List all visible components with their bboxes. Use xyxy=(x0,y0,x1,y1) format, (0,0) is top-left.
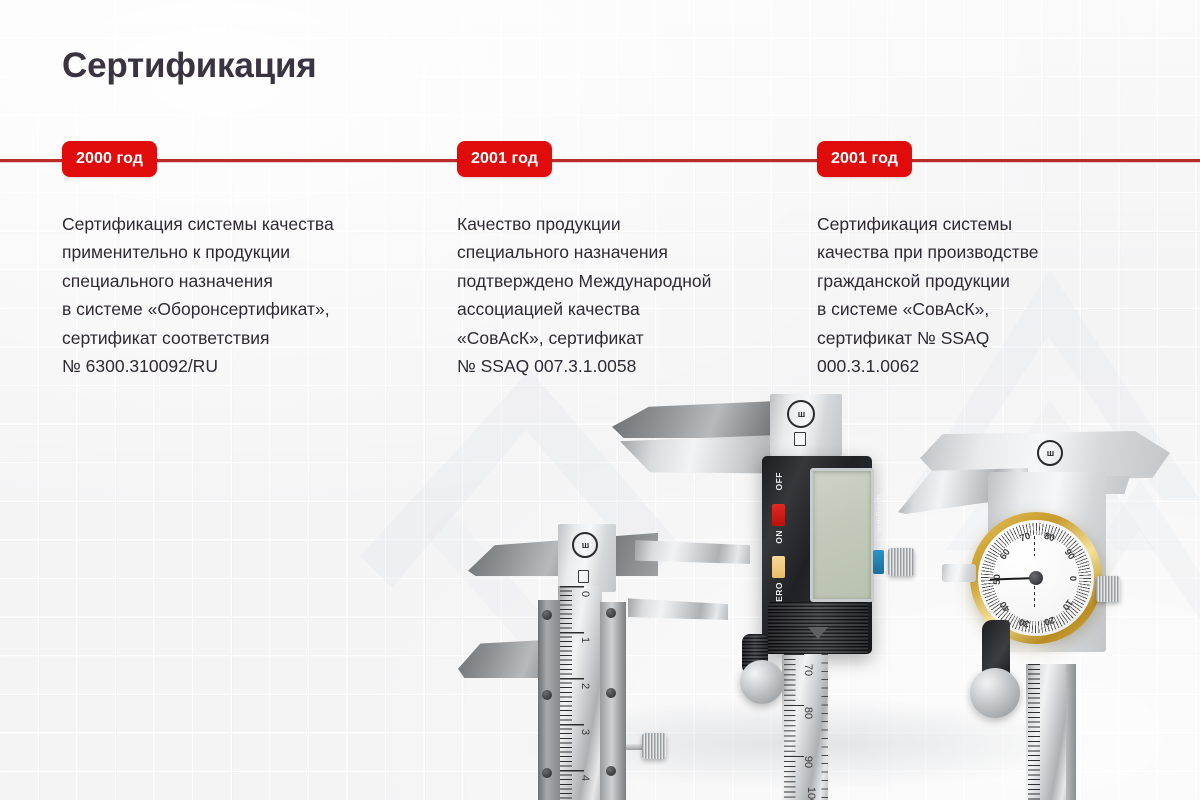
digital-beam-number-80: 80 xyxy=(802,707,814,719)
digital-mm-inch-label: mm/inch xyxy=(874,494,884,532)
digital-lcd-screen xyxy=(810,468,874,602)
vernier-number-4: 4 xyxy=(579,775,591,781)
digital-on-label: ON xyxy=(774,530,784,544)
digital-beam-inch-ticks xyxy=(816,654,828,800)
vernier-screw-top-left xyxy=(542,610,552,620)
timeline-rule xyxy=(0,159,1200,162)
vernier-screw-mid-right xyxy=(606,688,616,698)
milestone-badge-3[interactable]: 2001 год xyxy=(817,141,912,177)
digital-off-label: OFF xyxy=(774,472,784,491)
dial-lock-thumbscrew[interactable] xyxy=(1096,576,1120,602)
dial-index-marks xyxy=(1034,536,1035,556)
digital-mm-inch-button[interactable] xyxy=(873,550,884,574)
dial-number-0: 0 xyxy=(1067,576,1078,581)
milestone-badge-1[interactable]: 2000 год xyxy=(62,141,157,177)
vernier-secondary-blade xyxy=(628,596,728,620)
vernier-head-slot xyxy=(578,570,589,583)
dial-left-lug xyxy=(942,564,976,582)
digital-beam-number-70: 70 xyxy=(802,664,814,676)
vernier-caliper-stamp-icon: ш xyxy=(572,532,598,558)
milestone-text-1: Сертификация системы качества применител… xyxy=(62,210,442,380)
vernier-screw-mid-left xyxy=(542,690,552,700)
dial-caliper-stamp-icon: ш xyxy=(1037,440,1063,466)
dial-gauge-face: 0 10 20 30 40 50 60 70 80 90 xyxy=(978,520,1094,636)
milestone-badge-2[interactable]: 2001 год xyxy=(457,141,552,177)
vernier-screw-bottom-left xyxy=(542,768,552,778)
milestone-text-3: Сертификация системы качества при произв… xyxy=(817,210,1167,380)
vernier-beam-major-ticks xyxy=(560,586,584,800)
milestone-text-2: Качество продукции специального назначен… xyxy=(457,210,807,380)
digital-beam-major-ticks xyxy=(784,654,804,800)
digital-depth-knob[interactable] xyxy=(740,660,784,704)
vernier-screw-top-right xyxy=(606,608,616,618)
digital-beam-number-90: 90 xyxy=(802,756,814,768)
vernier-number-2: 2 xyxy=(579,683,591,689)
vernier-screw-bottom-right xyxy=(606,766,616,776)
digital-on-button[interactable] xyxy=(772,556,785,578)
slide-canvas: ш OFF ON ZERO mm/inch xyxy=(0,0,1200,800)
vernier-number-3: 3 xyxy=(579,729,591,735)
digital-grip-arrow-icon xyxy=(808,627,828,639)
vernier-number-0: 0 xyxy=(579,591,591,597)
vernier-lock-thumbscrew[interactable] xyxy=(642,733,666,759)
dial-roller-knob[interactable] xyxy=(970,668,1020,718)
digital-off-button[interactable] xyxy=(772,504,785,526)
vernier-knife-jaw xyxy=(635,540,750,564)
dial-index-marks-lower xyxy=(1034,586,1035,608)
page-title: Сертификация xyxy=(62,46,317,86)
digital-jaw-slot xyxy=(794,432,806,446)
vernier-number-1: 1 xyxy=(579,637,591,643)
digital-thumbwheel[interactable] xyxy=(888,548,914,576)
calipers-photo: ш OFF ON ZERO mm/inch xyxy=(430,372,1200,800)
digital-caliper-stamp-icon: ш xyxy=(787,400,815,428)
dial-beam-ticks xyxy=(1028,664,1050,800)
dial-beam-edge xyxy=(1066,664,1076,800)
dial-needle-hub xyxy=(1029,571,1043,585)
